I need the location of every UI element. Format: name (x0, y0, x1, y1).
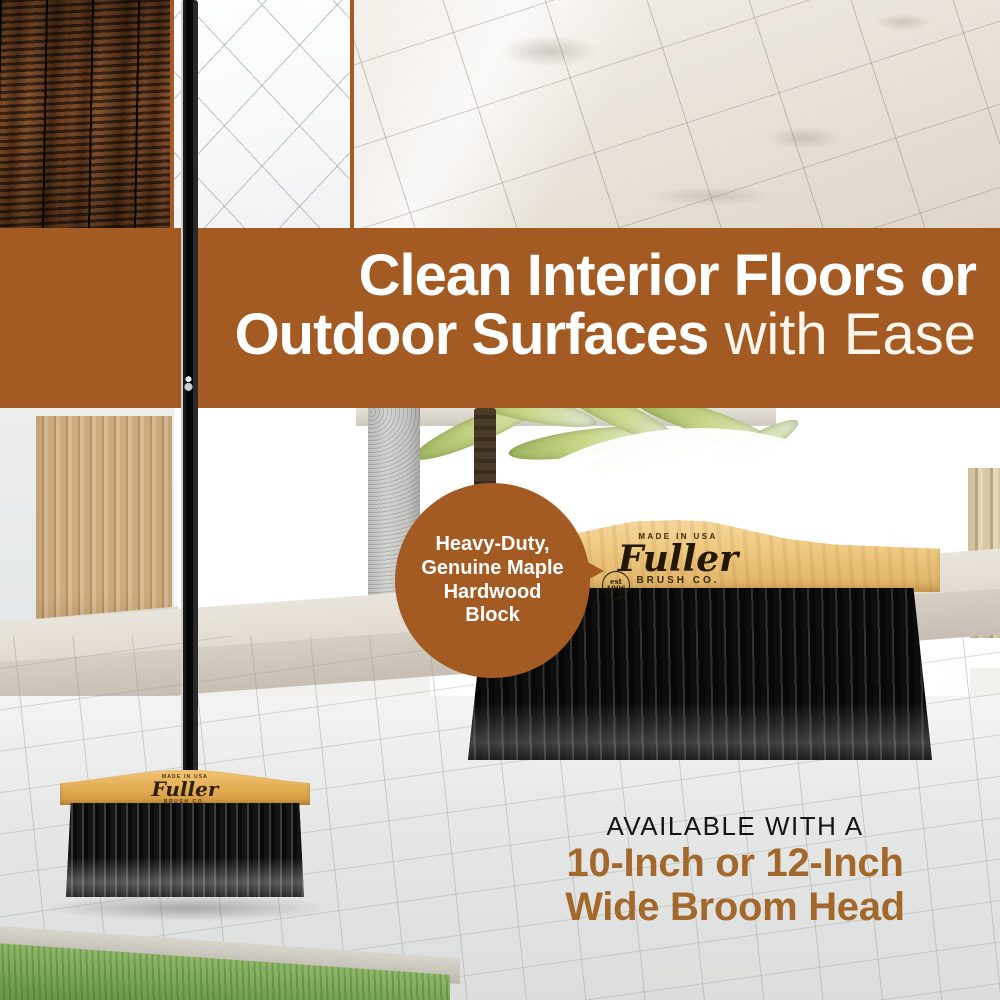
small-broom-bristles (66, 803, 304, 897)
headline-text-block: Clean Interior Floors or Outdoor Surface… (0, 246, 976, 364)
callout-line-2: Genuine Maple (421, 557, 563, 581)
callout-line-3: Hardwood (421, 581, 563, 605)
floor-sample-marble-tile (354, 0, 1000, 230)
floor-sample-dark-hardwood (0, 0, 170, 230)
broom-handle-marking (183, 372, 194, 396)
broom-handle (181, 0, 198, 795)
caption-kicker: AVAILABLE WITH A (520, 812, 950, 841)
small-broom-head: MADE IN USA Fuller BRUSH CO. (60, 770, 310, 905)
hero-broom-logo: MADE IN USA est 1906 Fuller BRUSH CO. (578, 532, 778, 586)
headline-line-2: Outdoor Surfaces with Ease (0, 305, 976, 364)
headline-line-2-bold: Outdoor Surfaces (235, 302, 709, 367)
wood-slat-wall (36, 416, 172, 628)
headline-line-1-text: Clean Interior Floors or (359, 243, 976, 308)
floor-samples-strip (0, 0, 1000, 230)
caption-size-line: 10-Inch or 12-Inch (520, 841, 950, 886)
product-marketing-image: Clean Interior Floors or Outdoor Surface… (0, 0, 1000, 1000)
hero-logo-script-text: Fuller (618, 538, 738, 580)
caption-product-line: Wide Broom Head (520, 885, 950, 930)
callout-line-4: Block (421, 604, 563, 628)
headline-line-2-thin: with Ease (708, 302, 976, 367)
hero-logo-script: est 1906 Fuller (578, 541, 778, 577)
headline-line-1: Clean Interior Floors or (0, 246, 976, 305)
callout-line-1: Heavy-Duty, (421, 533, 563, 557)
small-broom-logo: MADE IN USA Fuller BRUSH CO. (60, 774, 310, 805)
headline-banner: Clean Interior Floors or Outdoor Surface… (0, 228, 1000, 408)
callout-bubble: Heavy-Duty, Genuine Maple Hardwood Block (395, 483, 590, 678)
callout-text: Heavy-Duty, Genuine Maple Hardwood Block (421, 533, 563, 627)
small-logo-script: Fuller (60, 780, 310, 799)
floor-sample-white-ceramic-tile (174, 0, 350, 230)
hero-logo-est-badge: est 1906 (602, 571, 630, 599)
availability-caption: AVAILABLE WITH A 10-Inch or 12-Inch Wide… (520, 812, 950, 930)
